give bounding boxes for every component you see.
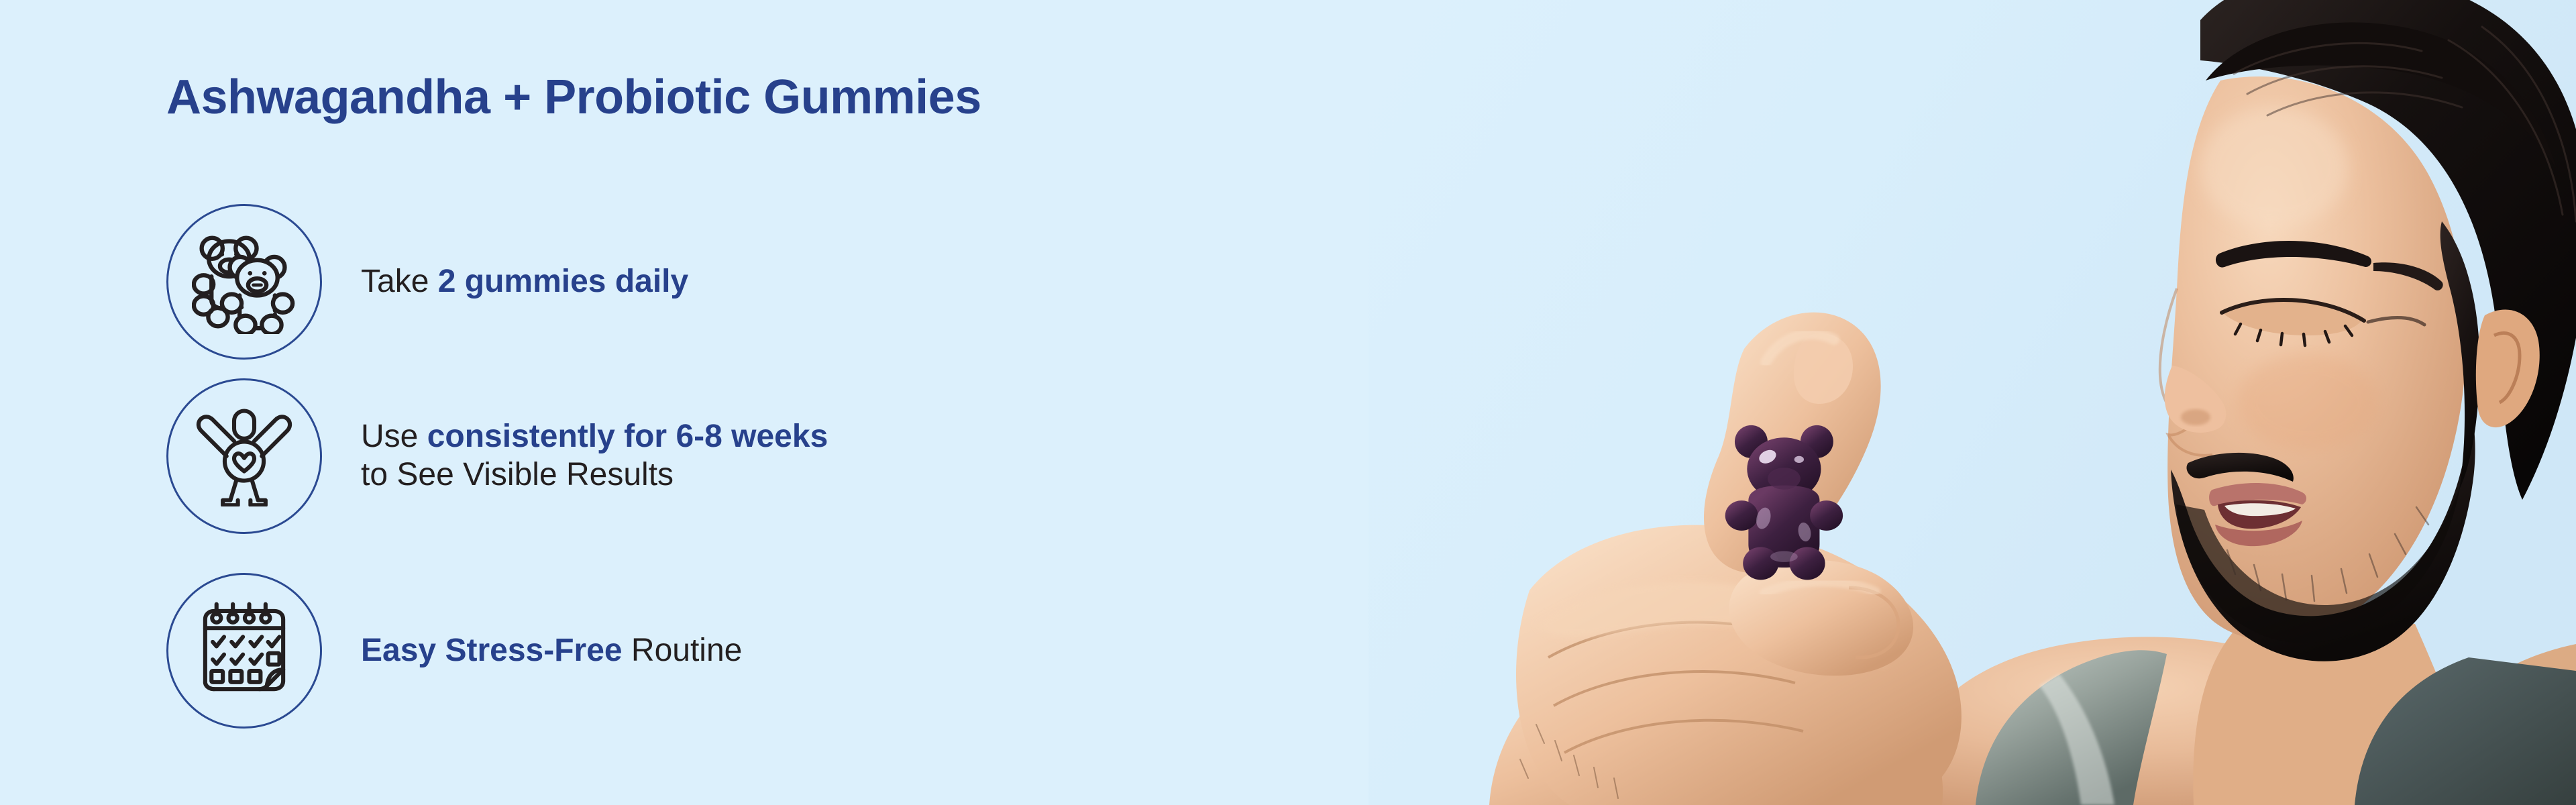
calendar-checkmarks-icon [166,573,322,729]
banner-content: Ashwagandha + Probiotic Gummies [166,0,1307,805]
celebrating-person-glyph [194,406,294,506]
feature-text-dosage: Take 2 gummies daily [361,263,688,301]
feature-plain-1: Use [361,419,427,454]
feature-item-routine: Easy Stress-Free Routine [166,570,742,731]
feature-plain-0: Take [361,264,438,299]
feature-emphasis-2: Easy Stress-Free [361,633,623,668]
feature-text-consistency: Use consistently for 6-8 weeks to See Vi… [361,418,828,494]
page-title: Ashwagandha + Probiotic Gummies [166,72,981,123]
promo-banner: Ashwagandha + Probiotic Gummies [0,0,2576,805]
feature-item-dosage: Take 2 gummies daily [166,201,688,362]
gummy-bears-glyph [192,229,297,334]
feature-line2-1: to See Visible Results [361,456,828,494]
feature-emphasis-0: 2 gummies daily [438,264,688,299]
feature-item-consistency: Use consistently for 6-8 weeks to See Vi… [166,376,828,537]
gummy-bears-icon [166,204,322,360]
feature-plain-2: Routine [623,633,743,668]
photo-illustration [1368,0,2576,805]
feature-text-routine: Easy Stress-Free Routine [361,632,742,670]
calendar-checkmarks-glyph [194,600,294,701]
man-holding-gummy-photo [1368,0,2576,805]
celebrating-person-icon [166,378,322,534]
feature-emphasis-1: consistently for 6-8 weeks [427,419,828,454]
